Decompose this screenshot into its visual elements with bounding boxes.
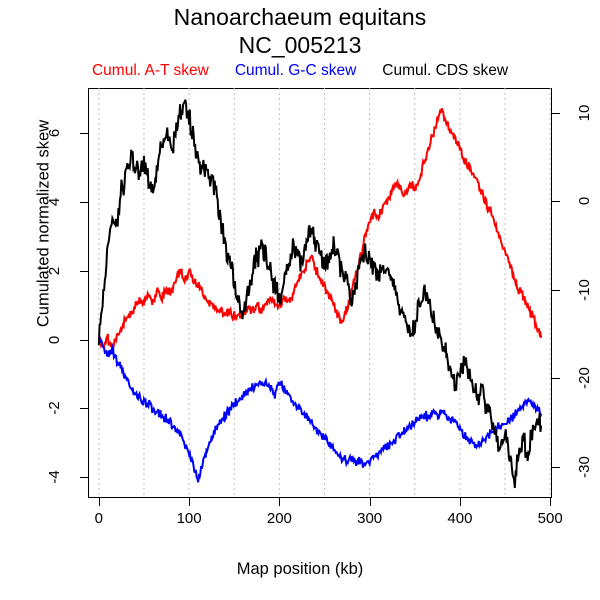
y-tick-label-right-box: 0 <box>562 191 600 211</box>
x-tick-label: 0 <box>95 510 103 527</box>
y-tick-mark-right <box>552 113 560 114</box>
x-tick-mark <box>99 498 100 506</box>
y-tick-label-right: 10 <box>575 90 595 136</box>
y-tick-mark-left <box>80 477 88 478</box>
y-tick-label-right-box: -20 <box>562 368 600 388</box>
series-line-at-skew <box>99 108 541 348</box>
series-line-cds-skew <box>99 100 541 488</box>
x-axis-label: Map position (kb) <box>0 560 600 579</box>
x-tick-label: 300 <box>357 510 382 527</box>
y-tick-label-right-box: -10 <box>562 280 600 300</box>
y-tick-label-left-box: 4 <box>32 192 78 212</box>
y-tick-mark-left <box>80 271 88 272</box>
y-tick-mark-left <box>80 408 88 409</box>
y-tick-label-left: 2 <box>45 248 65 294</box>
x-tick-mark <box>189 498 190 506</box>
y-tick-label-left-box: -4 <box>32 467 78 487</box>
x-tick-mark <box>460 498 461 506</box>
figure-canvas: Nanoarchaeum equitans NC_005213 Cumul. A… <box>0 0 600 600</box>
y-tick-label-right-box: 10 <box>562 103 600 123</box>
plot-area <box>88 88 552 498</box>
y-tick-mark-left <box>80 202 88 203</box>
y-tick-mark-left <box>80 340 88 341</box>
x-tick-label: 500 <box>538 510 563 527</box>
legend-item-gc-skew: Cumul. G-C skew <box>235 62 356 80</box>
y-tick-mark-right <box>552 201 560 202</box>
x-tick-mark <box>370 498 371 506</box>
y-tick-label-left: 4 <box>45 179 65 225</box>
y-tick-mark-right <box>552 290 560 291</box>
legend-item-cds-skew: Cumul. CDS skew <box>382 62 508 80</box>
chart-legend: Cumul. A-T skewCumul. G-C skewCumul. CDS… <box>0 62 600 80</box>
x-tick-mark <box>550 498 551 506</box>
x-tick-mark <box>279 498 280 506</box>
y-tick-label-left-box: 2 <box>32 261 78 281</box>
y-tick-mark-right <box>552 378 560 379</box>
y-tick-label-right: 0 <box>575 178 595 224</box>
y-tick-label-left: 0 <box>45 317 65 363</box>
chart-title-species: Nanoarchaeum equitans <box>0 4 600 31</box>
y-tick-label-left-box: 6 <box>32 123 78 143</box>
y-tick-label-left: -2 <box>45 385 65 431</box>
y-tick-mark-left <box>80 133 88 134</box>
x-tick-label: 400 <box>447 510 472 527</box>
chart-title-accession: NC_005213 <box>0 32 600 59</box>
x-tick-label: 100 <box>177 510 202 527</box>
y-tick-label-left: -4 <box>45 454 65 500</box>
y-tick-label-right-box: -30 <box>562 457 600 477</box>
y-tick-label-left: 6 <box>45 110 65 156</box>
y-tick-label-left-box: -2 <box>32 398 78 418</box>
y-tick-label-left-box: 0 <box>32 330 78 350</box>
x-tick-label: 200 <box>267 510 292 527</box>
series-line-gc-skew <box>99 338 541 482</box>
y-tick-label-right: -20 <box>575 355 595 401</box>
legend-item-at-skew: Cumul. A-T skew <box>92 62 209 80</box>
y-tick-mark-right <box>552 467 560 468</box>
data-layer <box>88 88 552 498</box>
y-tick-label-right: -10 <box>575 267 595 313</box>
y-tick-label-right: -30 <box>575 444 595 490</box>
